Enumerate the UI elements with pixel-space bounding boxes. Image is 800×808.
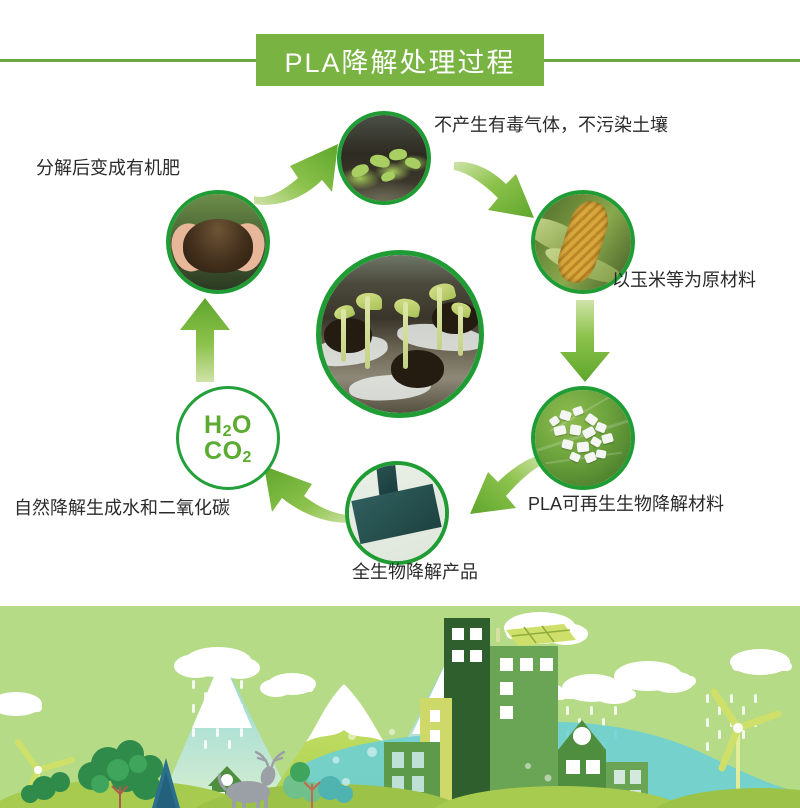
product-bag-photo xyxy=(349,465,445,561)
soil-sprouts-photo xyxy=(341,115,427,201)
label-biodegradable-product: 全生物降解产品 xyxy=(352,558,478,584)
title-banner: PLA降解处理过程 xyxy=(0,34,800,86)
label-corn-raw-material: 以玉米等为原材料 xyxy=(612,266,756,292)
compost-hands-photo xyxy=(170,194,266,290)
eco-city-illustration xyxy=(0,606,800,808)
plastic-pellets-photo xyxy=(535,390,631,486)
node-no-toxic-gas-image[interactable] xyxy=(337,111,431,205)
arrow-degradation-to-fertilizer xyxy=(176,296,234,382)
title-rule-right xyxy=(542,59,800,62)
title-rule-left xyxy=(0,59,258,62)
page-title: PLA降解处理过程 xyxy=(284,41,515,80)
label-organic-fertilizer: 分解后变成有机肥 xyxy=(36,154,180,180)
h2o-formula: H2O xyxy=(204,412,252,438)
label-pla-material: PLA可再生生物降解材料 xyxy=(528,490,724,516)
title-box: PLA降解处理过程 xyxy=(256,34,544,86)
node-h2o-co2-circle[interactable]: H2O CO2 xyxy=(176,386,280,490)
node-fertilizer-image[interactable] xyxy=(166,190,270,294)
arrow-corn-to-pellets xyxy=(558,300,614,384)
center-seedlings-image[interactable] xyxy=(316,250,484,418)
co2-formula: CO2 xyxy=(204,438,252,464)
seedlings-photo xyxy=(321,255,479,413)
infographic-stage: PLA降解处理过程 xyxy=(0,0,800,808)
compost-soil xyxy=(183,219,252,273)
label-natural-degradation: 自然降解生成水和二氧化碳 xyxy=(14,494,230,520)
node-product-image[interactable] xyxy=(345,461,449,565)
bag-body xyxy=(351,484,441,544)
label-no-toxic-gas: 不产生有毒气体，不污染土壤 xyxy=(434,111,668,137)
node-pla-material-image[interactable] xyxy=(531,386,635,490)
